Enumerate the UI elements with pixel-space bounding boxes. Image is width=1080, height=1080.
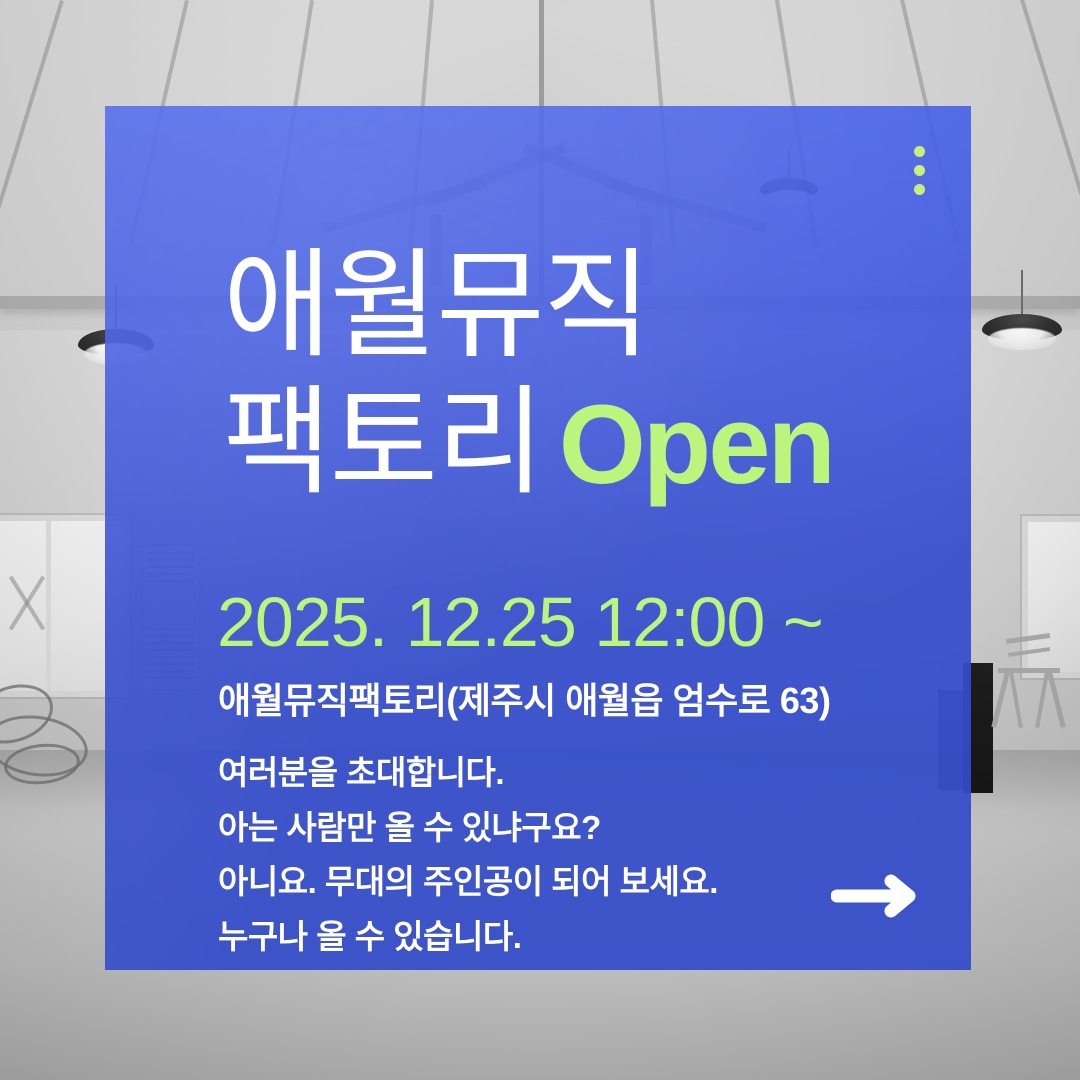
body-line: 아니요. 무대의 주인공이 되어 보세요. [218, 860, 878, 904]
open-label: Open [559, 380, 833, 510]
body-line: 누구나 올 수 있습니다. [218, 915, 878, 959]
kebab-dot [914, 184, 925, 195]
body-line: 여러분을 초대합니다. [218, 751, 878, 795]
page-title: 애월뮤직 팩토리 Open [223, 238, 943, 512]
poster-canvas: 애월뮤직 팩토리 Open 2025. 12.25 12:00 ~ 애월뮤직팩토… [0, 0, 1080, 1080]
title-line-1: 애월뮤직 [223, 238, 943, 375]
event-datetime: 2025. 12.25 12:00 ~ [217, 582, 823, 662]
promo-card: 애월뮤직 팩토리 Open 2025. 12.25 12:00 ~ 애월뮤직팩토… [105, 106, 971, 970]
kebab-menu-icon[interactable] [913, 146, 925, 195]
kebab-dot [914, 146, 925, 157]
body-line: 아는 사람만 올 수 있냐구요? [218, 806, 878, 850]
title-line-2: 팩토리 [223, 375, 543, 512]
kebab-dot [914, 165, 925, 176]
title-line-2-row: 팩토리 Open [223, 375, 943, 512]
venue-address: 애월뮤직팩토리(제주시 애월읍 엄수로 63) [218, 672, 830, 724]
invitation-body: 여러분을 초대합니다. 아는 사람만 올 수 있냐구요? 아니요. 무대의 주인… [218, 751, 878, 969]
arrow-right-icon[interactable] [831, 874, 923, 918]
